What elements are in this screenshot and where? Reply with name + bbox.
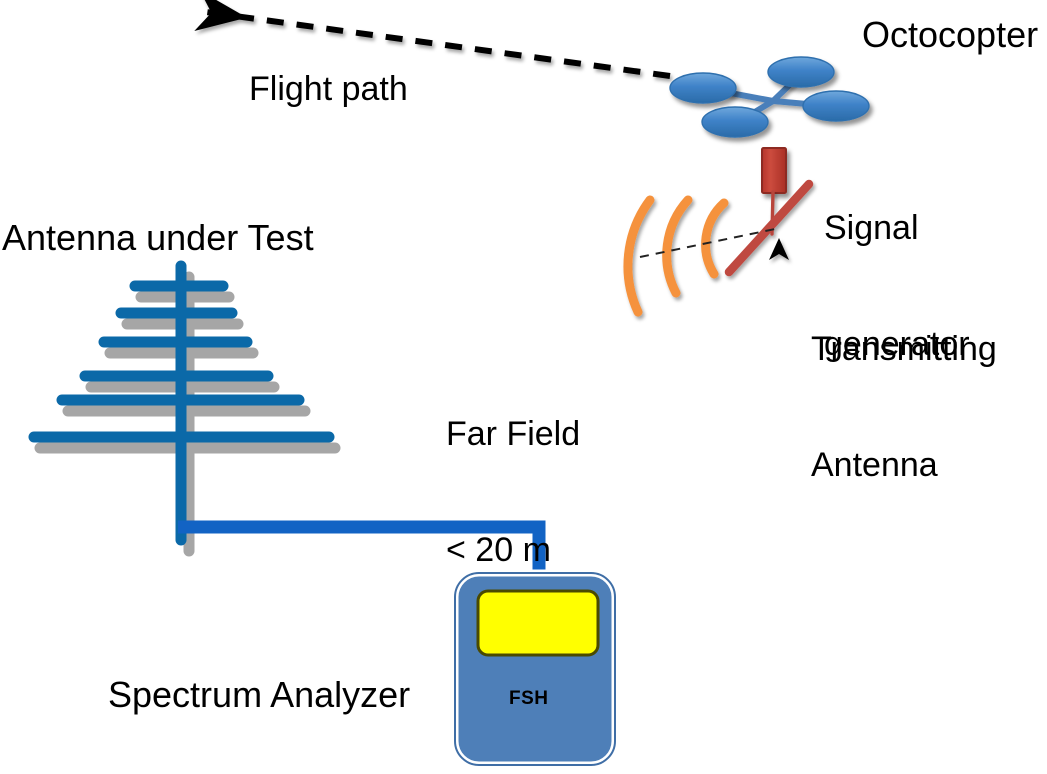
transmitting-antenna-icon (729, 184, 809, 272)
label-device-model: FSH (509, 688, 549, 710)
distance-arrow-icon (769, 238, 789, 774)
label-far-field-distance: < 20 m (446, 531, 580, 570)
signal-generator-icon (762, 148, 786, 193)
rotor-lower-left (702, 107, 768, 137)
label-flight-path: Flight path (249, 70, 408, 109)
label-transmitting-antenna-line2: Antenna (811, 446, 997, 485)
label-octocopter: Octocopter (862, 14, 1038, 55)
rotor-upper-right (768, 57, 834, 87)
label-far-field: Far Field < 20 m (446, 337, 580, 647)
label-far-field-line1: Far Field (446, 415, 580, 454)
label-transmitting-antenna: Transmitting Antenna (811, 252, 997, 562)
diagram-canvas: Octocopter Flight path Signal generator … (0, 0, 1047, 774)
flight-path-arrow-icon (206, 12, 670, 76)
label-antenna-under-test: Antenna under Test (2, 217, 314, 258)
rotor-left (670, 73, 736, 103)
rotor-right (803, 91, 869, 121)
log-periodic-antenna-icon (34, 266, 335, 551)
label-signal-generator-line1: Signal (824, 209, 970, 248)
label-spectrum-analyzer: Spectrum Analyzer (108, 674, 410, 715)
label-transmitting-antenna-line1: Transmitting (811, 330, 997, 369)
